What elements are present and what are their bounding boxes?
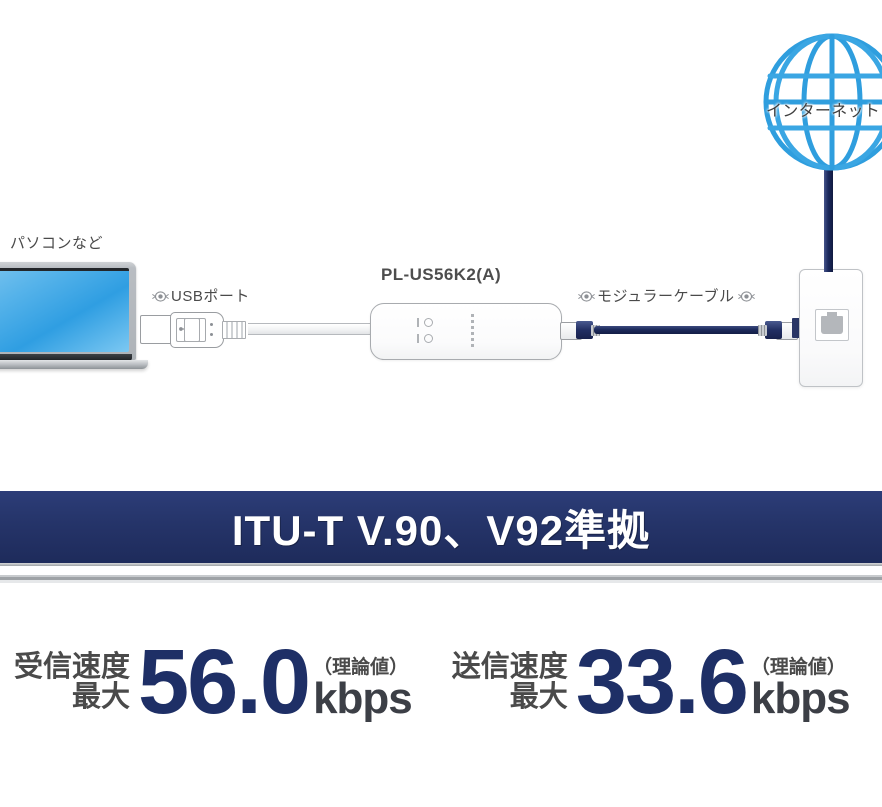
receive-speed-unit: kbps xyxy=(313,677,412,721)
lens-pointer-icon xyxy=(578,290,595,303)
pc-label: パソコンなど xyxy=(10,232,103,253)
cable-wire xyxy=(594,326,764,334)
led-indicator xyxy=(417,318,443,327)
product-model-label: PL-US56K2(A) xyxy=(381,265,501,285)
usb-modem-device xyxy=(370,303,562,360)
receive-speed-title: 受信速度 最大 xyxy=(14,653,130,725)
send-speed-title: 送信速度 最大 xyxy=(452,653,568,725)
send-speed-tail: （理論値） kbps xyxy=(751,652,850,725)
compliance-banner-wrapper: ITU-T V.90、V92準拠 xyxy=(0,491,882,565)
receive-speed-title-line2: 最大 xyxy=(72,683,130,713)
laptop-illustration xyxy=(0,262,148,370)
receive-speed-value: 56.0 xyxy=(138,640,309,725)
connection-diagram: パソコンなど USBポート xyxy=(0,0,882,480)
section-divider xyxy=(0,574,882,583)
send-speed-unit: kbps xyxy=(751,677,850,721)
laptop-lid xyxy=(0,262,136,360)
modem-rj11-port xyxy=(184,318,200,342)
send-speed-spec: 送信速度 最大 33.6 （理論値） kbps xyxy=(452,640,850,725)
lens-pointer-icon xyxy=(152,290,169,303)
internet-label: インターネット xyxy=(766,97,880,121)
usb-port-label: USBポート xyxy=(171,288,250,305)
receive-speed-tail: （理論値） kbps xyxy=(313,652,412,725)
modem-vent-marks xyxy=(471,314,474,350)
modular-cable-callout: モジュラーケーブル xyxy=(578,285,755,306)
usb-cable-grip xyxy=(222,321,246,339)
usb-port-callout: USBポート xyxy=(152,285,250,306)
led-indicator xyxy=(417,334,443,343)
receive-speed-title-line1: 受信速度 xyxy=(14,653,130,683)
receive-speed-spec: 受信速度 最大 56.0 （理論値） kbps xyxy=(14,640,412,725)
speed-specs-row: 受信速度 最大 56.0 （理論値） kbps 送信速度 最大 33.6 （理論… xyxy=(0,640,882,760)
send-speed-title-line2: 最大 xyxy=(510,683,568,713)
wall-telephone-jack xyxy=(799,269,863,387)
usb-contact-dot xyxy=(210,333,213,336)
send-speed-title-line1: 送信速度 xyxy=(452,653,568,683)
modular-cable-label: モジュラーケーブル xyxy=(597,288,735,305)
laptop-base xyxy=(0,360,148,369)
usb-cable xyxy=(248,323,376,335)
compliance-banner-text: ITU-T V.90、V92準拠 xyxy=(232,497,650,558)
send-speed-value: 33.6 xyxy=(576,640,747,725)
lens-pointer-icon xyxy=(738,290,755,303)
line-to-internet xyxy=(824,166,833,272)
banner-bottom-edge xyxy=(0,563,882,566)
usb-contact-dot xyxy=(210,323,213,326)
modular-cable-graphic xyxy=(560,318,798,342)
rj11-jack-icon xyxy=(815,309,849,341)
compliance-banner: ITU-T V.90、V92準拠 xyxy=(0,491,882,563)
laptop-screen xyxy=(0,268,129,352)
